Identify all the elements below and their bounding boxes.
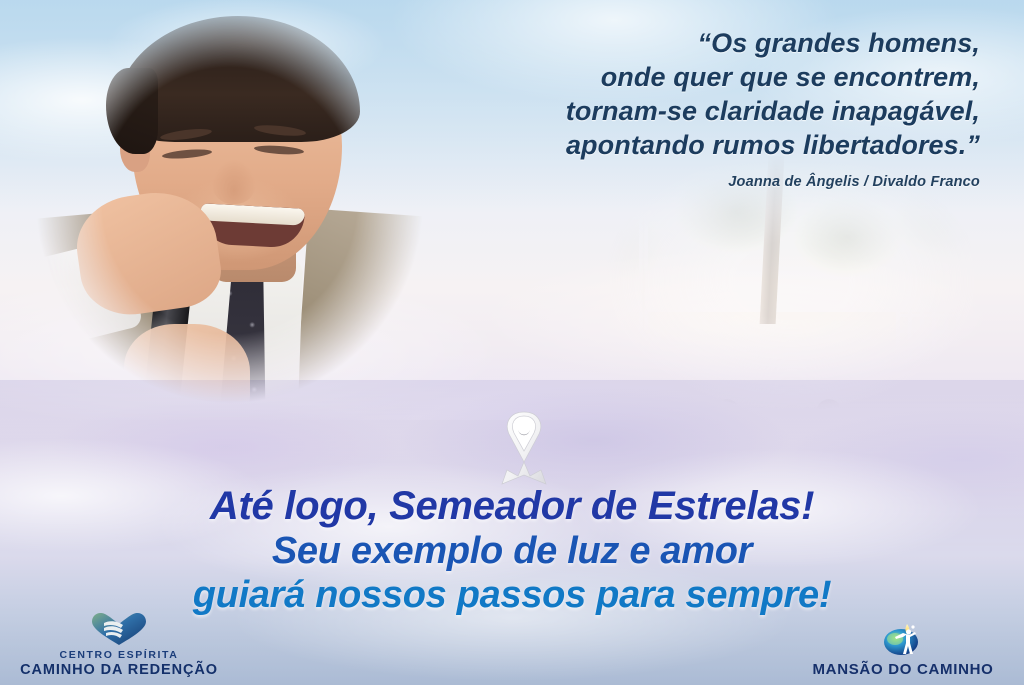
quote-line-2: onde quer que se encontrem,	[420, 60, 980, 94]
portrait-divaldo-franco	[4, 0, 474, 464]
portrait-suit-right	[291, 208, 478, 469]
quote-line-4: apontando rumos libertadores.”	[420, 128, 980, 162]
photo-fence	[896, 266, 996, 365]
quote-line-3: tornam-se claridade inapagável,	[420, 94, 980, 128]
quote-line-1: “Os grandes homens,	[420, 26, 980, 60]
poster-canvas: “Os grandes homens, onde quer que se enc…	[0, 0, 1024, 685]
logo-left-line-2: CAMINHO DA REDENÇÃO	[4, 662, 234, 679]
background-photo-two-people	[560, 150, 1024, 440]
logo-mansao-do-caminho: MANSÃO DO CAMINHO	[788, 618, 1018, 679]
headline-line-2: Seu exemplo de luz e amor	[0, 532, 1024, 570]
portrait-hand-lower	[124, 324, 250, 432]
logo-centro-espirita-caminho-da-redencao: CENTRO ESPÍRITA CAMINHO DA REDENÇÃO	[4, 612, 234, 679]
portrait-hair	[116, 16, 360, 142]
quote-attribution: Joanna de Ângelis / Divaldo Franco	[420, 174, 980, 190]
quote-block: “Os grandes homens, onde quer que se enc…	[420, 26, 980, 190]
logo-right-line-1: MANSÃO DO CAMINHO	[788, 661, 1018, 679]
headline-line-3: guiará nossos passos para sempre!	[0, 576, 1024, 614]
mourning-ribbon-icon	[488, 406, 560, 488]
portrait-nose	[212, 160, 256, 204]
globe-figure-flame-icon	[879, 618, 927, 658]
heart-hands-icon	[90, 612, 148, 646]
headline-line-1: Até logo, Semeador de Estrelas!	[0, 486, 1024, 526]
logo-left-line-1: CENTRO ESPÍRITA	[4, 649, 234, 662]
headline-block: Até logo, Semeador de Estrelas! Seu exem…	[0, 486, 1024, 614]
